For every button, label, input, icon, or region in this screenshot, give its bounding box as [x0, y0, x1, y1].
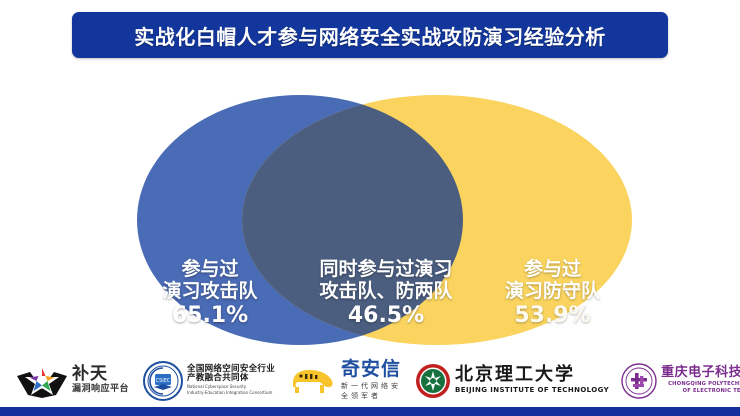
logo-qax-subtitle: 新一代网络安全领军者: [341, 381, 401, 401]
logo-butian: 补天 漏洞响应平台: [16, 358, 129, 404]
logo-bit: 北京理工大学 BEIJING INSTITUTE OF TECHNOLOGY: [415, 358, 609, 404]
csiec-badge-icon: CSIEC: [143, 361, 183, 401]
venn-label-both-line1: 同时参与过演习: [286, 258, 486, 280]
logo-csiec-en-line1: National Cyberspace Security: [187, 385, 275, 389]
venn-value-attack: 65.1%: [130, 303, 290, 329]
logo-bit-en: BEIJING INSTITUTE OF TECHNOLOGY: [455, 387, 609, 394]
bit-crest-icon: [415, 363, 451, 399]
logo-cqcet-en-line2: OF ELECTRONIC TECHNOLOGY: [661, 389, 740, 394]
logo-bit-name: 北京理工大学: [455, 366, 609, 385]
csiec-badge-text: CSIEC: [156, 378, 171, 384]
logo-csiec-name-line2: 产教融合共同体: [187, 374, 275, 383]
venn-value-both: 46.5%: [286, 303, 486, 329]
page-title-bar: 实战化白帽人才参与网络安全实战攻防演习经验分析: [72, 12, 668, 58]
logo-csiec: CSIEC 全国网络空间安全行业 产教融合共同体 National Cybers…: [143, 358, 275, 404]
venn-diagram: 参与过 演习攻击队 65.1% 同时参与过演习 攻击队、防两队 46.5% 参与…: [0, 78, 740, 353]
venn-label-defense-line1: 参与过: [470, 258, 635, 280]
page-title: 实战化白帽人才参与网络安全实战攻防演习经验分析: [134, 21, 606, 50]
logo-butian-name: 补天: [72, 366, 129, 384]
logo-cqcet-en-line1: CHONGQING POLYTECHNIC UNIVERSITY: [661, 382, 740, 387]
qax-mascot-icon: [287, 365, 337, 397]
slide-canvas: 实战化白帽人才参与网络安全实战攻防演习经验分析 参与过 演习攻击队 65.1% …: [0, 0, 740, 416]
cqcet-crest-icon: [621, 363, 657, 399]
venn-label-both: 同时参与过演习 攻击队、防两队 46.5%: [286, 258, 486, 329]
footer: 补天 漏洞响应平台 CSIEC 全国网络空间安全行业 产教融合共同体 Na: [0, 354, 740, 416]
logo-cqcet-name: 重庆电子科技职业大学: [661, 366, 740, 380]
venn-label-attack-line2: 演习攻击队: [130, 280, 290, 302]
venn-label-defense: 参与过 演习防守队 53.9%: [470, 258, 635, 329]
venn-label-attack-line1: 参与过: [130, 258, 290, 280]
footer-accent-bar: [0, 407, 740, 416]
logo-csiec-en-line2: Industry-Education Integration Consortiu…: [187, 391, 275, 395]
logo-cqcet: 重庆电子科技职业大学 CHONGQING POLYTECHNIC UNIVERS…: [621, 358, 740, 404]
logo-qax-name: 奇安信: [341, 360, 401, 380]
logo-qax: 奇安信 新一代网络安全领军者: [287, 358, 401, 404]
venn-label-attack: 参与过 演习攻击队 65.1%: [130, 258, 290, 329]
logo-strip: 补天 漏洞响应平台 CSIEC 全国网络空间安全行业 产教融合共同体 Na: [0, 354, 740, 407]
venn-label-defense-line2: 演习防守队: [470, 280, 635, 302]
venn-label-both-line2: 攻击队、防两队: [286, 280, 486, 302]
venn-value-defense: 53.9%: [470, 303, 635, 329]
butian-star-wings-icon: [16, 362, 68, 400]
logo-butian-subtitle: 漏洞响应平台: [72, 385, 129, 394]
